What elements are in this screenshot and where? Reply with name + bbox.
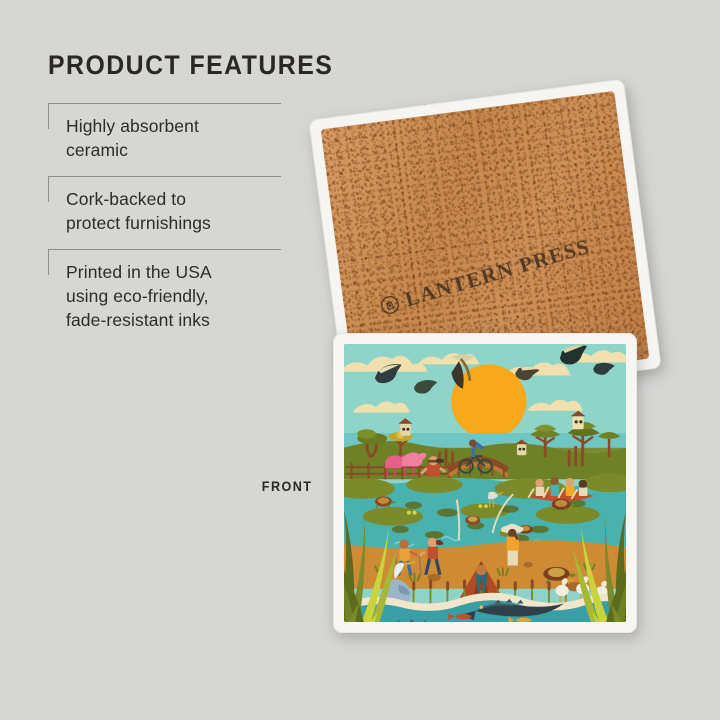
everglades-illustration [344, 344, 626, 622]
feature-divider [48, 249, 281, 250]
label-front: FRONT [262, 478, 313, 494]
feature-text: Highly absorbent ceramic [66, 114, 298, 162]
coaster-front-artwork [344, 344, 626, 622]
lantern-icon [378, 293, 402, 317]
feature-item: Highly absorbent ceramic [48, 103, 298, 176]
feature-divider [48, 103, 281, 104]
feature-divider [48, 176, 281, 177]
product-features-panel: PRODUCT FEATURES Highly absorbent cerami… [48, 50, 298, 346]
coaster-front [333, 333, 637, 633]
feature-tick [48, 249, 49, 275]
page-title: PRODUCT FEATURES [48, 50, 278, 81]
feature-text: Cork-backed to protect furnishings [66, 187, 298, 235]
feature-text: Printed in the USA using eco-friendly, f… [66, 260, 298, 332]
feature-tick [48, 103, 49, 129]
feature-item: Cork-backed to protect furnishings [48, 176, 298, 249]
feature-item: Printed in the USA using eco-friendly, f… [48, 249, 298, 346]
product-feature-page: PRODUCT FEATURES Highly absorbent cerami… [0, 0, 720, 720]
feature-tick [48, 176, 49, 202]
